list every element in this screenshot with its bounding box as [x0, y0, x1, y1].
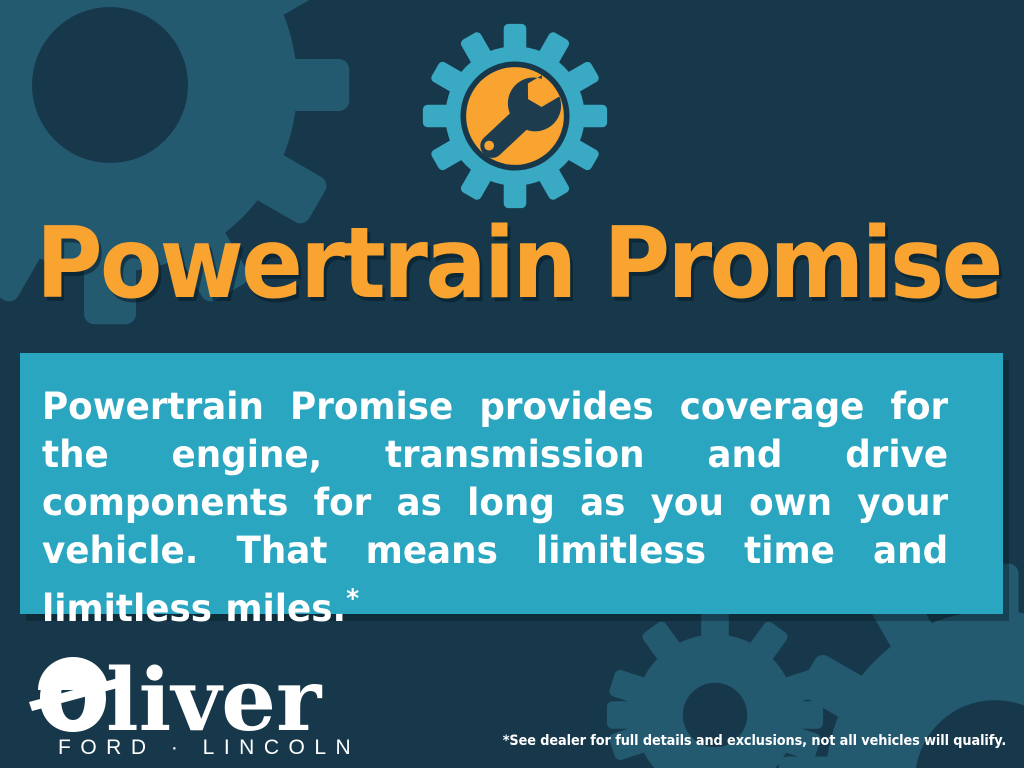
description-text: Powertrain Promise provides coverage for… — [42, 383, 948, 633]
oliver-wordmark-icon: liver — [28, 640, 328, 732]
powertrain-promise-graphic: Powertrain Promise Powertrain Promise pr… — [0, 0, 1024, 768]
description-body: Powertrain Promise provides coverage for… — [42, 385, 948, 630]
svg-text:liver: liver — [106, 650, 323, 732]
oliver-logo: liver FORD · LINCOLN — [28, 640, 328, 760]
page-title: Powertrain Promise — [36, 215, 988, 313]
description-asterisk: * — [346, 584, 359, 614]
gear-wrench-icon — [421, 22, 609, 210]
oliver-logo-subtitle: FORD · LINCOLN — [58, 736, 360, 760]
disclaimer-text: *See dealer for full details and exclusi… — [503, 733, 1006, 749]
description-panel: Powertrain Promise provides coverage for… — [20, 353, 1003, 614]
